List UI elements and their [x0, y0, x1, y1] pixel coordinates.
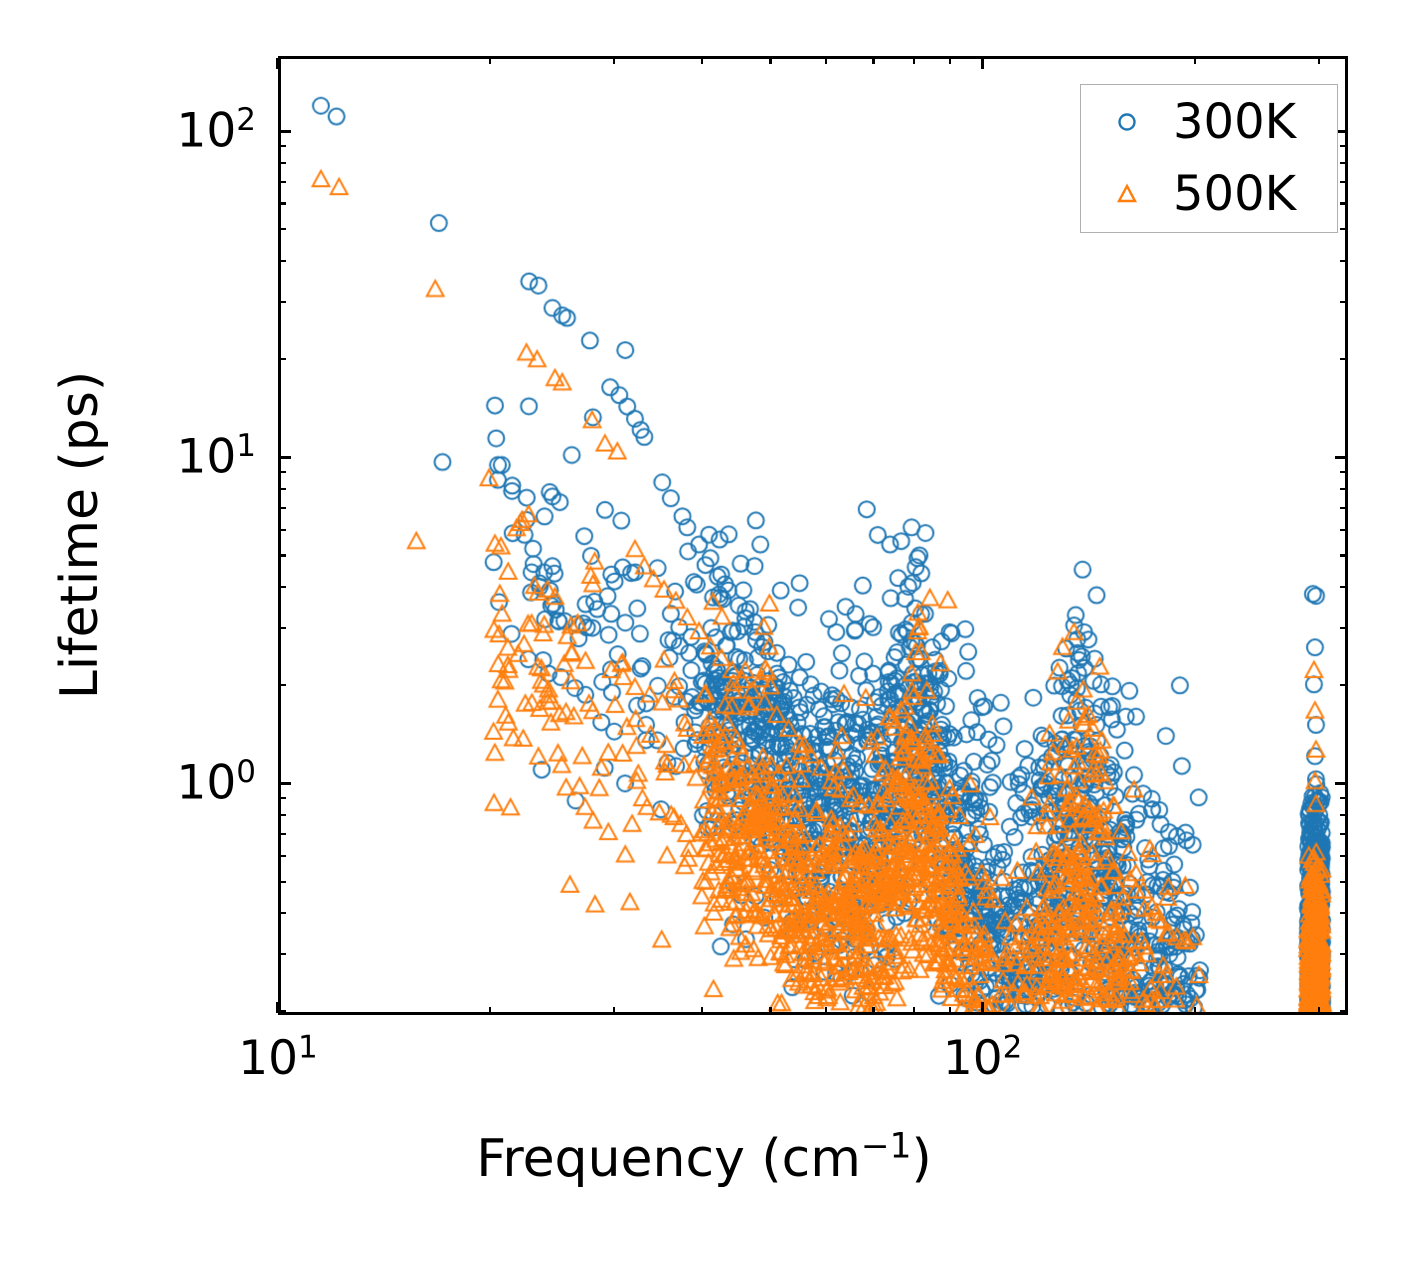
y-tick-2 [280, 684, 287, 686]
y-tick-20 [280, 358, 287, 360]
y-tick-5 [280, 554, 287, 556]
legend-marker-circle-icon [1081, 109, 1173, 135]
figure: 101102100101102 Frequency (cm−1) Lifetim… [0, 0, 1408, 1265]
x-axis-label: Frequency (cm−1) [0, 1129, 1408, 1189]
legend-label-300k: 300K [1173, 94, 1296, 150]
y-tick-0.2 [280, 1010, 287, 1012]
y-tick-right-0.6 [1340, 855, 1347, 857]
y-tick-right-6 [1340, 529, 1347, 531]
y-tick-1 [280, 782, 291, 785]
y-tick-right-40 [1340, 260, 1347, 262]
y-tick-3 [280, 627, 287, 629]
y-tick-0.8 [280, 814, 287, 816]
y-tick-right-50 [1340, 228, 1347, 230]
x-tick-60 [825, 1007, 827, 1014]
y-tick-0.9 [280, 797, 287, 799]
x-tick-top-20 [489, 58, 491, 65]
y-tick-9 [280, 471, 287, 473]
y-tick-70 [280, 181, 287, 183]
y-tick-30 [280, 301, 287, 303]
y-axis-label: Lifetime (ps) [50, 155, 110, 915]
x-tick-200 [1194, 1007, 1196, 1014]
x-tick-top-90 [949, 58, 951, 65]
y-tick-0.4 [280, 912, 287, 914]
y-tick-0.7 [280, 833, 287, 835]
y-tick-label-100: 102 [60, 108, 256, 155]
y-tick-right-0.2 [1340, 1010, 1347, 1012]
y-tick-right-0.9 [1340, 797, 1347, 799]
x-tick-20 [489, 1007, 491, 1014]
y-tick-right-5 [1340, 554, 1347, 556]
legend: 300K 500K [1080, 84, 1338, 233]
x-tick-top-40 [701, 58, 703, 65]
y-tick-right-30 [1340, 301, 1347, 303]
x-tick-80 [913, 1007, 915, 1014]
x-tick-top-70 [872, 58, 874, 65]
y-tick-right-80 [1340, 162, 1347, 164]
legend-item-300k[interactable]: 300K [1081, 89, 1337, 155]
x-tick-90 [949, 1007, 951, 1014]
y-tick-4 [280, 586, 287, 588]
y-tick-7 [280, 507, 287, 509]
y-tick-right-2 [1340, 684, 1347, 686]
x-tick-top-300 [1318, 58, 1320, 65]
x-tick-300 [1318, 1007, 1320, 1014]
y-tick-right-0.8 [1340, 814, 1347, 816]
y-tick-6 [280, 529, 287, 531]
x-tick-top-60 [825, 58, 827, 65]
y-tick-80 [280, 162, 287, 164]
x-tick-30 [613, 1007, 615, 1014]
x-tick-100 [981, 1002, 984, 1013]
y-tick-right-20 [1340, 358, 1347, 360]
y-tick-0.6 [280, 855, 287, 857]
legend-item-500k[interactable]: 500K [1081, 161, 1337, 227]
x-tick-top-10 [276, 58, 279, 69]
y-tick-60 [280, 202, 287, 204]
y-tick-0.5 [280, 881, 287, 883]
y-tick-right-0.4 [1340, 912, 1347, 914]
x-tick-70 [872, 1007, 874, 1014]
y-tick-right-10 [1335, 456, 1346, 459]
y-tick-right-4 [1340, 586, 1347, 588]
y-tick-50 [280, 228, 287, 230]
x-tick-top-200 [1194, 58, 1196, 65]
legend-marker-triangle-icon [1081, 181, 1173, 207]
y-tick-right-70 [1340, 181, 1347, 183]
x-tick-top-100 [981, 58, 984, 69]
y-tick-right-60 [1340, 202, 1347, 204]
y-tick-right-90 [1340, 145, 1347, 147]
x-tick-top-80 [913, 58, 915, 65]
x-tick-label-10: 101 [238, 1035, 318, 1082]
x-tick-50 [769, 1007, 771, 1014]
y-tick-8 [280, 488, 287, 490]
y-tick-right-0.3 [1340, 953, 1347, 955]
y-tick-right-7 [1340, 507, 1347, 509]
y-tick-40 [280, 260, 287, 262]
y-tick-right-9 [1340, 471, 1347, 473]
legend-label-500k: 500K [1173, 166, 1296, 222]
x-axis-label-text: Frequency (cm−1) [476, 1129, 932, 1189]
y-tick-right-8 [1340, 488, 1347, 490]
x-tick-top-30 [613, 58, 615, 65]
y-tick-90 [280, 145, 287, 147]
y-tick-100 [280, 130, 291, 133]
y-tick-0.3 [280, 953, 287, 955]
x-tick-label-100: 102 [943, 1035, 1023, 1082]
y-tick-right-3 [1340, 627, 1347, 629]
y-tick-right-0.5 [1340, 881, 1347, 883]
y-tick-right-0.7 [1340, 833, 1347, 835]
y-tick-10 [280, 456, 291, 459]
x-tick-40 [701, 1007, 703, 1014]
y-tick-right-1 [1335, 782, 1346, 785]
x-tick-top-50 [769, 58, 771, 65]
